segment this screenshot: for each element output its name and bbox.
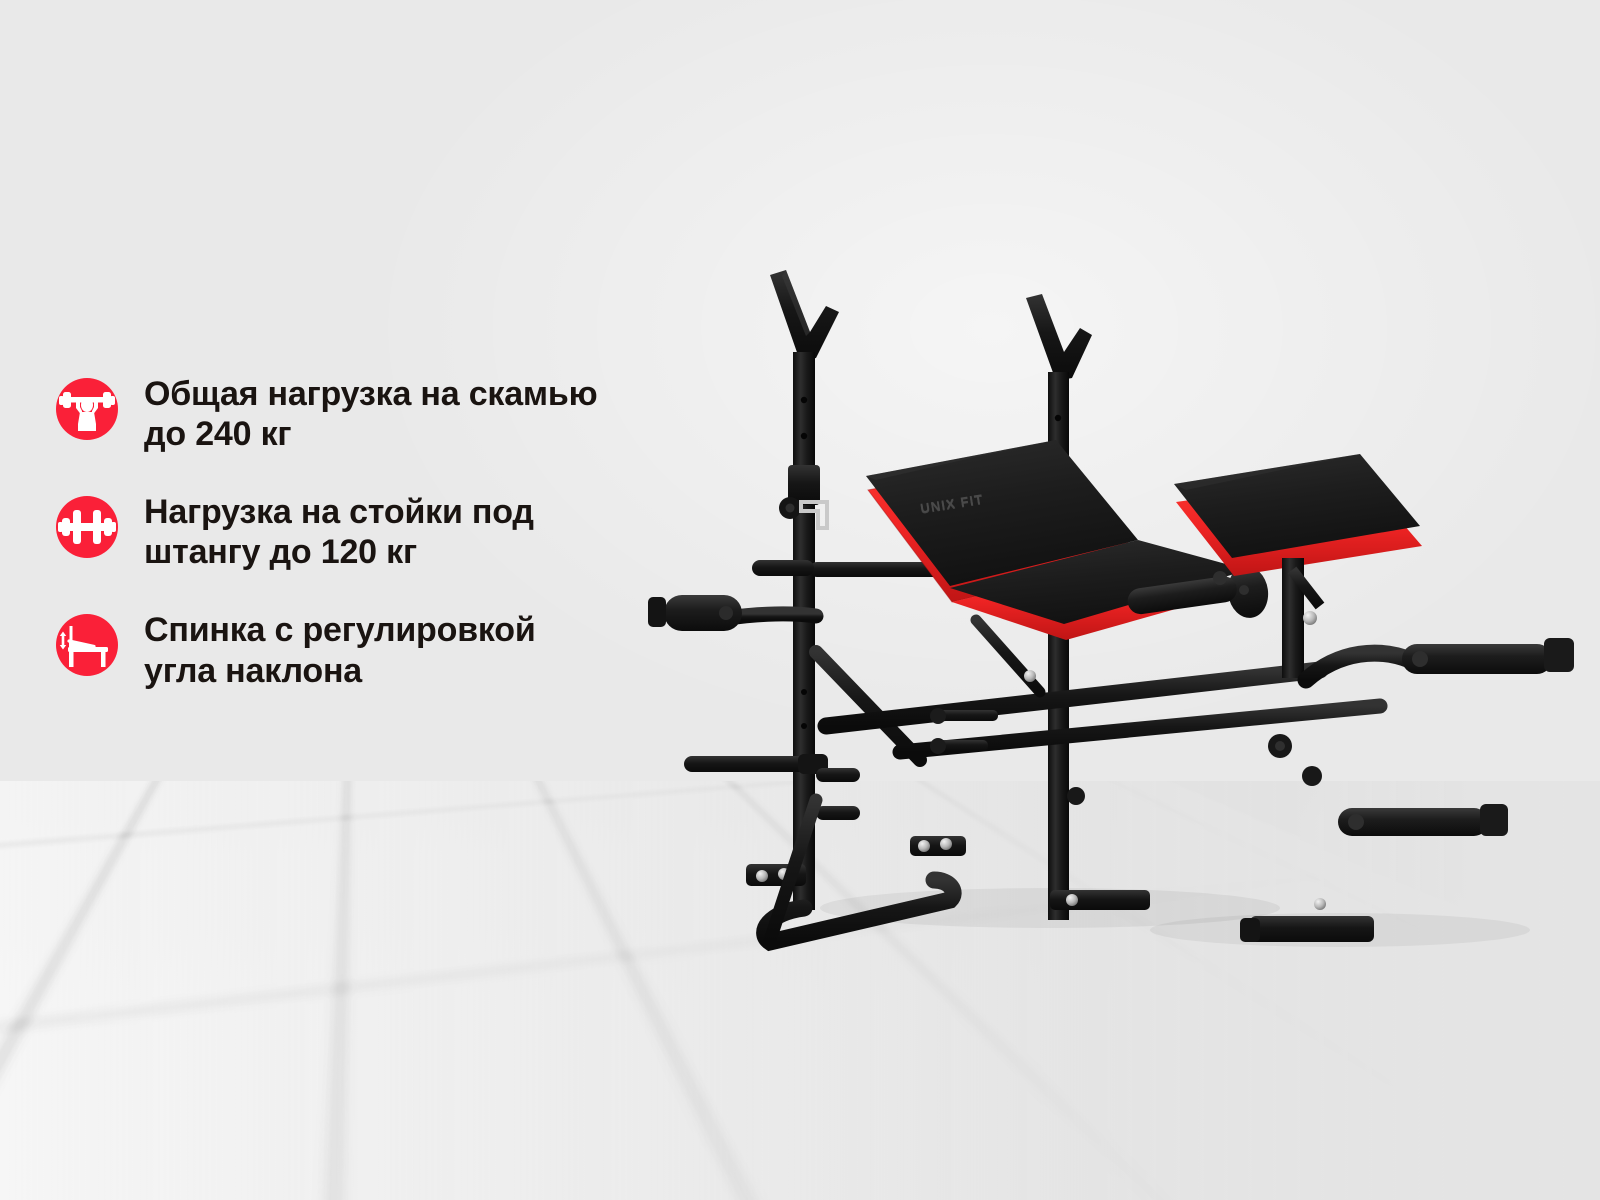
- feature-line-2: штангу до 120 кг: [144, 533, 417, 571]
- plate-storage-pegs: [684, 754, 860, 820]
- feature-list: Общая нагрузка на скамью до 240 кг Нагру…: [56, 374, 776, 691]
- diagonal-brace: [816, 652, 920, 760]
- feature-text: Спинка с регулировкой угла наклона: [144, 610, 536, 690]
- feature-item: Нагрузка на стойки под штангу до 120 кг: [56, 492, 776, 572]
- feature-item: Общая нагрузка на скамью до 240 кг: [56, 374, 776, 454]
- adjustable-bench-icon: [56, 614, 118, 676]
- feature-text: Общая нагрузка на скамью до 240 кг: [144, 374, 597, 454]
- feature-line-1: Общая нагрузка на скамью: [144, 375, 597, 413]
- leg-developer: [1240, 638, 1574, 942]
- feature-item: Спинка с регулировкой угла наклона: [56, 610, 776, 690]
- feature-line-1: Спинка с регулировкой: [144, 611, 536, 649]
- feature-line-1: Нагрузка на стойки под: [144, 493, 534, 531]
- weightlifter-icon: [56, 378, 118, 440]
- feature-line-2: угла наклона: [144, 652, 362, 690]
- feature-line-2: до 240 кг: [144, 415, 291, 453]
- feature-text: Нагрузка на стойки под штангу до 120 кг: [144, 492, 534, 572]
- dumbbell-icon: [56, 496, 118, 558]
